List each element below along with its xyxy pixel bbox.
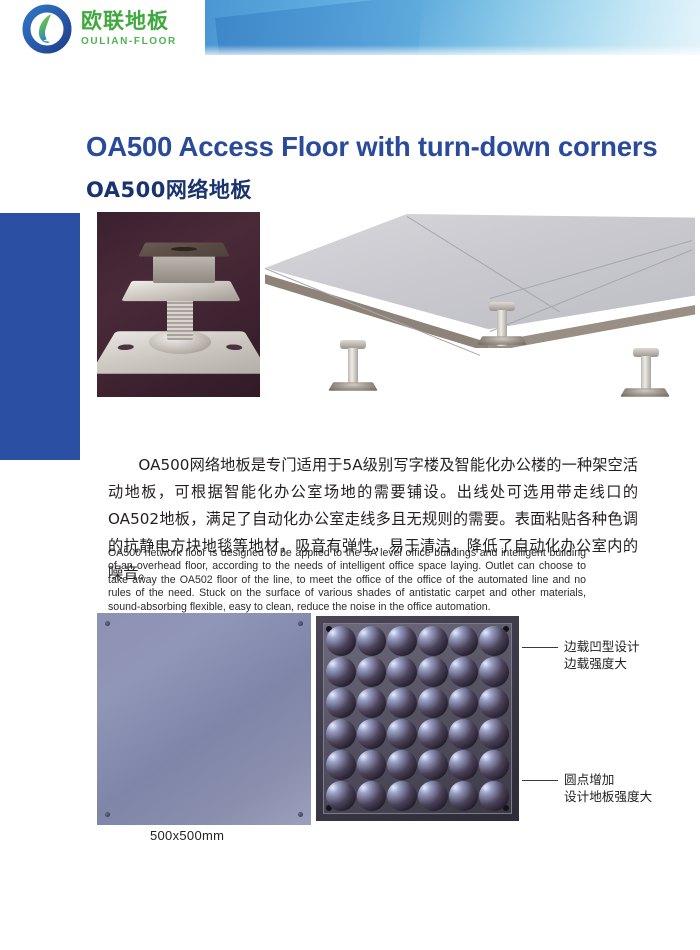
assembly-pedestal-foot-3 [620, 388, 670, 397]
dimple-dome [357, 657, 387, 687]
dimple-dome [479, 657, 509, 687]
dimple-dome [326, 781, 356, 811]
company-logo: 欧联地板 OULIAN-FLOOR [22, 4, 177, 54]
panel-screw-bottom-right [298, 812, 303, 817]
dimple-dome [357, 688, 387, 718]
pedestal-mid-plate [121, 281, 240, 301]
header-banner-graphic [205, 0, 700, 55]
dimple-dome [418, 626, 448, 656]
photo-panel-top-face [97, 613, 311, 825]
dimple-dome [479, 781, 509, 811]
dimple-dome [418, 781, 448, 811]
dimple-dome [326, 626, 356, 656]
dimple-dome [449, 719, 479, 749]
dimple-dome [387, 657, 417, 687]
company-name-en: OULIAN-FLOOR [81, 37, 177, 47]
dimple-dome [387, 750, 417, 780]
callout-leader-line [522, 647, 558, 648]
dimple-dome [418, 657, 448, 687]
callout-text-block: 圆点增加 设计地板强度大 [564, 771, 652, 805]
description-paragraph-english: OA500 network floor is designed to be ap… [108, 547, 586, 615]
oulian-circle-leaf-logo-icon [22, 4, 72, 54]
company-name-cn: 欧联地板 [81, 11, 177, 32]
dimple-dome [418, 688, 448, 718]
dimple-dome [326, 719, 356, 749]
page-title-english: OA500 Access Floor with turn-down corner… [86, 131, 657, 163]
dimple-dome [387, 719, 417, 749]
assembly-pedestal-foot-1 [328, 382, 378, 391]
pedestal-cap-hole [171, 247, 198, 251]
callout-text-block: 边载凹型设计 边载强度大 [564, 638, 640, 672]
dimple-dome [449, 750, 479, 780]
photo-floor-assembly [265, 212, 698, 408]
banner-bottom-fade [205, 45, 700, 55]
dimple-dome [357, 781, 387, 811]
page-title-chinese: OA500网络地板 [86, 174, 252, 204]
dimple-dome [326, 750, 356, 780]
dimple-dome [387, 781, 417, 811]
assembly-pedestal-leg-3 [641, 356, 651, 392]
dimple-dome [387, 626, 417, 656]
panel-screw-bottom-left [105, 812, 110, 817]
dimple-dome [326, 657, 356, 687]
callout-line-1: 边载凹型设计 [564, 638, 640, 655]
callout-line-2: 边载强度大 [564, 655, 640, 672]
callout-dot-strength: 圆点增加 设计地板强度大 [522, 771, 652, 805]
dimple-dome [449, 626, 479, 656]
panel-screw-top-right [298, 621, 303, 626]
underside-dimple-grid [326, 626, 509, 811]
dimple-dome [479, 688, 509, 718]
dimple-dome [357, 626, 387, 656]
dimple-dome [479, 750, 509, 780]
logo-wordmark: 欧联地板 OULIAN-FLOOR [81, 11, 177, 47]
panel-size-caption: 500x500mm [150, 828, 224, 843]
dimple-dome [357, 719, 387, 749]
decorative-blue-sidebar [0, 213, 80, 460]
dimple-dome [479, 626, 509, 656]
callout-line-2: 设计地板强度大 [564, 788, 652, 805]
dimple-dome [479, 719, 509, 749]
dimple-dome [418, 719, 448, 749]
page-header: 欧联地板 OULIAN-FLOOR [0, 0, 700, 62]
callout-leader-line [522, 780, 558, 781]
dimple-dome [449, 781, 479, 811]
callout-edge-load-design: 边载凹型设计 边载强度大 [522, 638, 640, 672]
photo-pedestal-detail [97, 212, 260, 397]
dimple-dome [387, 688, 417, 718]
dimple-dome [449, 657, 479, 687]
dimple-dome [326, 688, 356, 718]
panel-screw-top-left [105, 621, 110, 626]
pedestal-cross-cap [138, 242, 230, 256]
callout-line-1: 圆点增加 [564, 771, 652, 788]
assembly-pedestal-foot-2 [477, 336, 527, 345]
photo-panel-underside [316, 616, 519, 821]
dimple-dome [418, 750, 448, 780]
dimple-dome [357, 750, 387, 780]
assembly-pedestal-leg-1 [348, 348, 358, 384]
dimple-dome [449, 688, 479, 718]
